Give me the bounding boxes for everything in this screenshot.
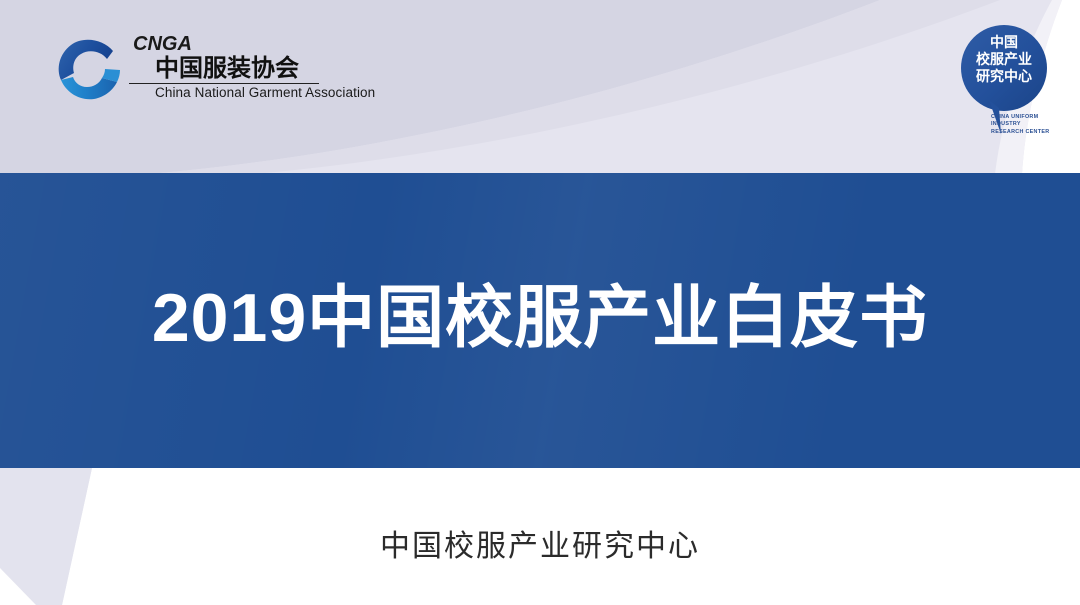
research-center-name-cn: 中国 校服产业 研究中心 [967, 34, 1041, 85]
cnga-c-mark-icon [47, 35, 131, 109]
report-cover-slide: 2019中国校服产业白皮书 中国校服产业研究中心 [0, 0, 1080, 605]
page-title: 2019中国校服产业白皮书 [152, 284, 928, 352]
cnga-name-cn: 中国服装协会 [129, 55, 319, 84]
research-center-name-en-line-1: CHINA UNIFORM [991, 114, 1071, 121]
title-area: 2019中国校服产业白皮书 [0, 173, 1080, 468]
publisher-name: 中国校服产业研究中心 [0, 521, 1080, 565]
cnga-name-en: China National Garment Association [129, 84, 344, 102]
cnga-logo: CNGA 中国服装协会 China National Garment Assoc… [47, 33, 347, 113]
research-center-name-cn-line-3: 研究中心 [967, 68, 1041, 85]
research-center-name-cn-line-2: 校服产业 [967, 51, 1041, 68]
cnga-acronym: CNGA [129, 33, 344, 55]
research-center-logo: 中国 校服产业 研究中心 CHINA UNIFORM INDUSTRY RESE… [955, 22, 1070, 137]
research-center-name-cn-line-1: 中国 [967, 34, 1041, 51]
research-center-name-en: CHINA UNIFORM INDUSTRY RESEARCH CENTER [991, 114, 1071, 136]
cnga-lockup-text: CNGA 中国服装协会 China National Garment Assoc… [129, 33, 344, 102]
research-center-name-en-line-3: RESEARCH CENTER [991, 129, 1071, 136]
research-center-name-en-line-2: INDUSTRY [991, 121, 1071, 128]
